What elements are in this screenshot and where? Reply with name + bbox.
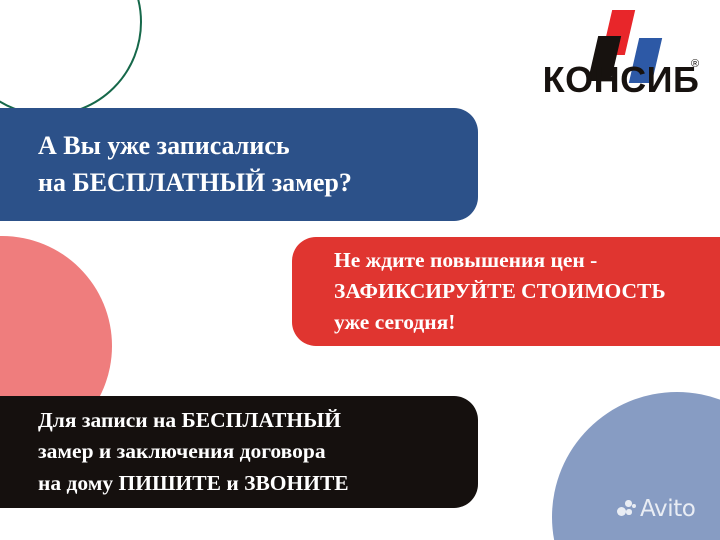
konsib-parallelogram-mark-icon xyxy=(531,8,711,66)
avito-watermark-label: Avito xyxy=(640,498,695,521)
banner-black-line-2: замер и заключения договора xyxy=(38,436,478,467)
brand-logo: КОНСИБ ® xyxy=(531,8,711,106)
banner-free-measurement: А Вы уже записались на БЕСПЛАТНЫЙ замер? xyxy=(0,108,478,221)
brand-wordmark: КОНСИБ xyxy=(531,62,711,98)
banner-black-line-3: на дому ПИШИТЕ и ЗВОНИТЕ xyxy=(38,468,478,499)
banner-blue-line-1: А Вы уже записались xyxy=(38,128,478,165)
registered-trademark-icon: ® xyxy=(691,58,699,70)
banner-black-line-1: Для записи на БЕСПЛАТНЫЙ xyxy=(38,405,478,436)
avito-watermark: Avito xyxy=(617,498,695,521)
banner-red-line-1: Не ждите повышения цен - xyxy=(334,245,720,276)
banner-contact-call-to-action: Для записи на БЕСПЛАТНЫЙ замер и заключе… xyxy=(0,396,478,508)
banner-price-lock: Не ждите повышения цен - ЗАФИКСИРУЙТЕ СТ… xyxy=(292,237,720,346)
poster-canvas: КОНСИБ ® А Вы уже записались на БЕСПЛАТН… xyxy=(0,0,720,540)
banner-red-line-2: ЗАФИКСИРУЙТЕ СТОИМОСТЬ xyxy=(334,276,720,307)
banner-red-line-3: уже сегодня! xyxy=(334,307,720,338)
green-ring-decoration xyxy=(0,0,142,116)
avito-dots-icon xyxy=(617,500,636,519)
banner-blue-line-2: на БЕСПЛАТНЫЙ замер? xyxy=(38,165,478,202)
